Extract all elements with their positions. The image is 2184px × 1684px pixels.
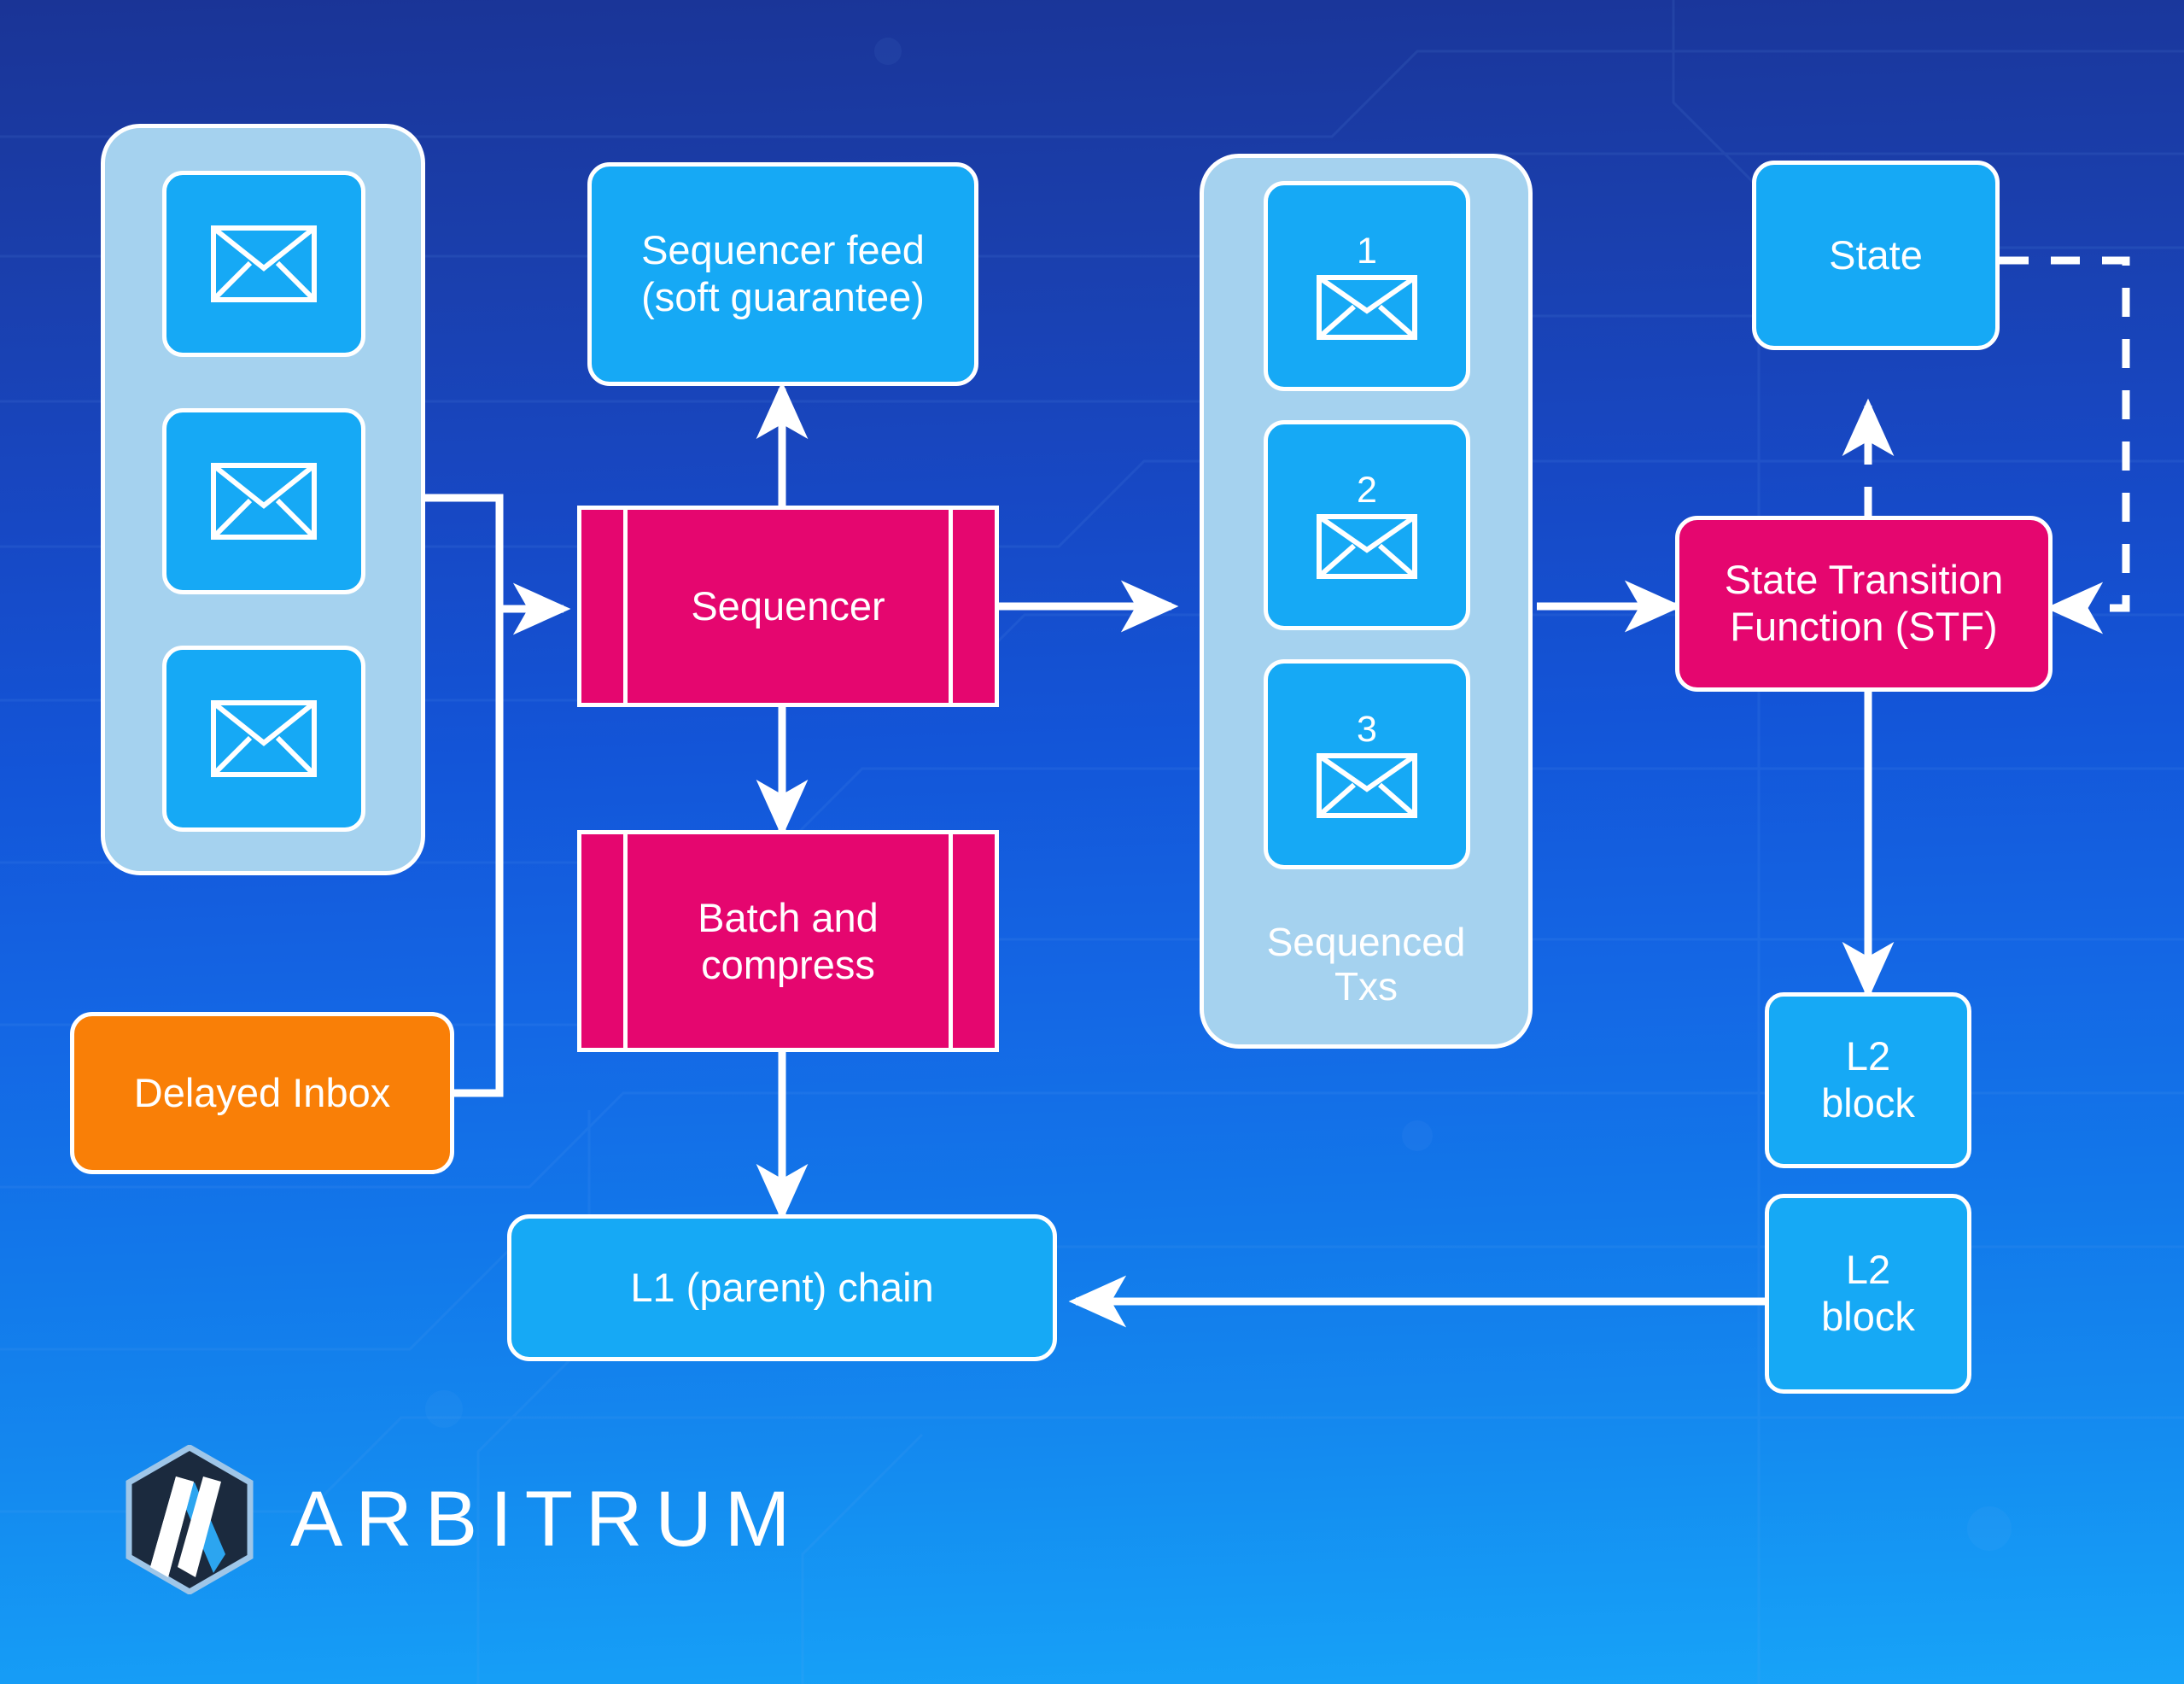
node-sequencer[interactable]: Sequencer: [577, 506, 999, 707]
l2-block-2-line-2: block: [1821, 1294, 1915, 1341]
batch-label: Batch and compress: [577, 830, 999, 1052]
sequenced-txs-line-2: Txs: [1200, 965, 1533, 1009]
envelope-icon: [1317, 275, 1417, 340]
diagram-canvas: Delayed Inbox Sequencer feed (soft guara…: [0, 0, 2184, 1684]
edge-delayed-inbox-to-sequencer: [454, 609, 499, 1093]
l1-chain-label: L1 (parent) chain: [630, 1265, 933, 1312]
sequenced-tx-card-2[interactable]: 2: [1264, 420, 1470, 630]
node-state-transition-function[interactable]: State Transition Function (STF): [1675, 516, 2053, 692]
l2-block-1-line-2: block: [1821, 1080, 1915, 1127]
sequencer-label: Sequencer: [577, 506, 999, 707]
node-state[interactable]: State: [1752, 161, 2000, 350]
inbox-envelope-card-3[interactable]: [162, 646, 365, 832]
sequencer-feed-line-1: Sequencer feed: [641, 227, 925, 274]
batch-line-1: Batch and: [698, 894, 879, 941]
node-batch-and-compress[interactable]: Batch and compress: [577, 830, 999, 1052]
sequenced-txs-label: Sequenced Txs: [1200, 921, 1533, 1009]
delayed-inbox-label: Delayed Inbox: [134, 1070, 390, 1117]
inbox-envelope-card-1[interactable]: [162, 171, 365, 357]
envelope-icon: [1317, 753, 1417, 818]
arbitrum-wordmark: ARBITRUM: [290, 1475, 803, 1564]
node-l2-block-2[interactable]: L2 block: [1765, 1194, 1971, 1394]
sequenced-tx-card-1[interactable]: 1: [1264, 181, 1470, 391]
envelope-icon: [211, 225, 317, 302]
envelope-icon: [211, 700, 317, 777]
sequenced-tx-number-3: 3: [1357, 711, 1377, 748]
node-l1-parent-chain[interactable]: L1 (parent) chain: [507, 1214, 1057, 1361]
sequenced-txs-line-1: Sequenced: [1200, 921, 1533, 965]
node-sequencer-feed[interactable]: Sequencer feed (soft guarantee): [587, 162, 978, 386]
sequenced-tx-number-2: 2: [1357, 472, 1377, 509]
stf-line-2: Function (STF): [1730, 604, 1997, 651]
batch-line-2: compress: [701, 941, 875, 988]
l2-block-1-line-1: L2: [1846, 1033, 1890, 1080]
sequenced-tx-card-3[interactable]: 3: [1264, 659, 1470, 869]
node-delayed-inbox[interactable]: Delayed Inbox: [70, 1012, 454, 1174]
node-l2-block-1[interactable]: L2 block: [1765, 992, 1971, 1168]
envelope-icon: [1317, 514, 1417, 579]
envelope-icon: [211, 463, 317, 540]
state-label: State: [1829, 232, 1923, 279]
l2-block-2-line-1: L2: [1846, 1247, 1890, 1294]
arbitrum-hexagon-logo: [125, 1445, 254, 1594]
arbitrum-logo: ARBITRUM: [125, 1445, 803, 1594]
edge-inbox-to-sequencer: [424, 498, 499, 609]
sequencer-feed-line-2: (soft guarantee): [641, 274, 925, 321]
sequenced-tx-number-1: 1: [1357, 233, 1377, 270]
stf-line-1: State Transition: [1725, 557, 2004, 604]
inbox-envelope-card-2[interactable]: [162, 408, 365, 594]
